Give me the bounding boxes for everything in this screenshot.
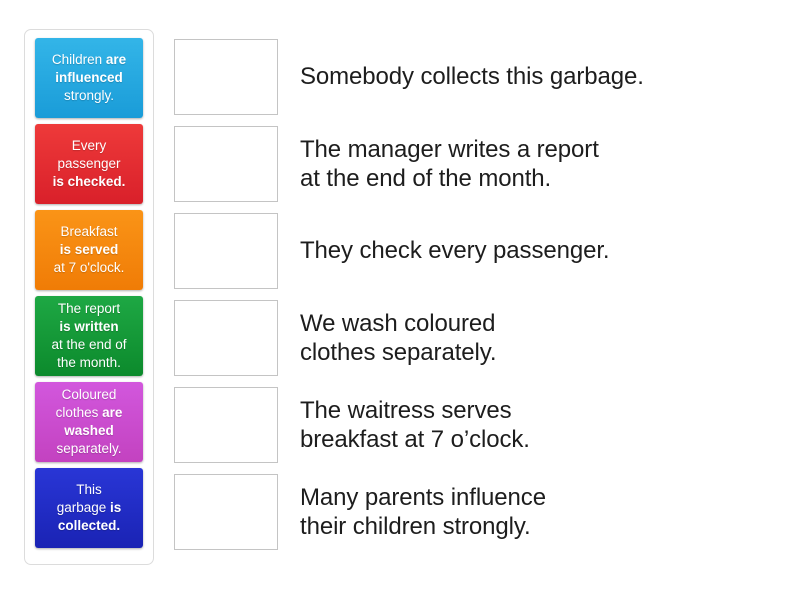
tile-coloured-clothes-washed[interactable]: Colouredclothes arewashedseparately. [35, 382, 143, 462]
tile-text-line: Every [39, 137, 139, 155]
tile-text-line: influenced [39, 69, 139, 87]
answer-text-line: breakfast at 7 o’clock. [300, 425, 530, 454]
answer-row: We wash colouredclothes separately. [174, 299, 774, 377]
activity-root: Children areinfluencedstrongly.Everypass… [0, 0, 800, 600]
tile-label: Children areinfluencedstrongly. [39, 51, 139, 105]
drop-zone-4[interactable] [174, 300, 278, 376]
tile-text-plain: at 7 o'clock. [54, 260, 125, 275]
tile-label: Thisgarbage iscollected. [39, 481, 139, 535]
answer-text-line: They check every passenger. [300, 236, 609, 265]
tile-text-line: separately. [39, 440, 139, 458]
tile-text-bold: is [110, 500, 121, 515]
tile-text-line: Coloured [39, 386, 139, 404]
answer-list: Somebody collects this garbage.The manag… [174, 38, 774, 560]
answer-collects-garbage: Somebody collects this garbage. [300, 62, 644, 91]
tile-text-plain: Every [72, 138, 107, 153]
tile-text-line: washed [39, 422, 139, 440]
tile-text-bold: are [106, 52, 126, 67]
answer-text-line: The waitress serves [300, 396, 530, 425]
answer-text-line: We wash coloured [300, 309, 496, 338]
answer-row: Many parents influencetheir children str… [174, 473, 774, 551]
tile-text-plain: at the end of [51, 337, 126, 352]
tile-text-bold: are [102, 405, 122, 420]
tile-text-plain: clothes [56, 405, 103, 420]
drop-zone-3[interactable] [174, 213, 278, 289]
tile-text-plain: garbage [57, 500, 110, 515]
tile-text-line: collected. [39, 517, 139, 535]
tile-garbage-collected[interactable]: Thisgarbage iscollected. [35, 468, 143, 548]
drop-zone-1[interactable] [174, 39, 278, 115]
tile-text-bold: is served [60, 242, 119, 257]
tile-text-line: The report [39, 300, 139, 318]
answer-row: The manager writes a reportat the end of… [174, 125, 774, 203]
tile-label: Colouredclothes arewashedseparately. [39, 386, 139, 458]
drop-zone-6[interactable] [174, 474, 278, 550]
tile-text-line: at the end of [39, 336, 139, 354]
answer-check-every-passenger: They check every passenger. [300, 236, 609, 265]
tile-text-line: clothes are [39, 404, 139, 422]
answer-row: The waitress servesbreakfast at 7 o’cloc… [174, 386, 774, 464]
tile-text-plain: Coloured [62, 387, 117, 402]
tile-tray: Children areinfluencedstrongly.Everypass… [24, 29, 154, 565]
answer-text-line: clothes separately. [300, 338, 496, 367]
drop-zone-2[interactable] [174, 126, 278, 202]
answer-text-line: at the end of the month. [300, 164, 599, 193]
answer-waitress-serves-breakfast: The waitress servesbreakfast at 7 o’cloc… [300, 396, 530, 455]
tile-label: The reportis writtenat the end ofthe mon… [39, 300, 139, 372]
tile-text-plain: strongly. [64, 88, 114, 103]
answer-row: They check every passenger. [174, 212, 774, 290]
tile-text-line: Breakfast [39, 223, 139, 241]
tile-label: Breakfastis servedat 7 o'clock. [39, 223, 139, 277]
tile-text-line: is served [39, 241, 139, 259]
tile-text-bold: influenced [55, 70, 123, 85]
tile-text-line: passenger [39, 155, 139, 173]
tile-text-plain: This [76, 482, 102, 497]
tile-text-bold: is checked. [53, 174, 126, 189]
tile-text-bold: is written [59, 319, 118, 334]
tile-text-line: This [39, 481, 139, 499]
answer-text-line: Somebody collects this garbage. [300, 62, 644, 91]
tile-text-line: strongly. [39, 87, 139, 105]
tile-text-bold: washed [64, 423, 114, 438]
tile-text-line: is checked. [39, 173, 139, 191]
tile-every-passenger-checked[interactable]: Everypassengeris checked. [35, 124, 143, 204]
tile-text-plain: Children [52, 52, 106, 67]
answer-manager-writes-report: The manager writes a reportat the end of… [300, 135, 599, 194]
tile-text-plain: passenger [57, 156, 120, 171]
tile-text-plain: The report [58, 301, 120, 316]
tile-text-bold: collected. [58, 518, 120, 533]
tile-text-line: is written [39, 318, 139, 336]
tile-text-line: at 7 o'clock. [39, 259, 139, 277]
tile-text-plain: Breakfast [60, 224, 117, 239]
tile-text-line: garbage is [39, 499, 139, 517]
tile-text-line: Children are [39, 51, 139, 69]
tile-text-line: the month. [39, 354, 139, 372]
tile-text-plain: separately. [56, 441, 121, 456]
answer-text-line: Many parents influence [300, 483, 546, 512]
tile-children-influenced[interactable]: Children areinfluencedstrongly. [35, 38, 143, 118]
answer-text-line: The manager writes a report [300, 135, 599, 164]
answer-wash-coloured-clothes: We wash colouredclothes separately. [300, 309, 496, 368]
tile-report-written[interactable]: The reportis writtenat the end ofthe mon… [35, 296, 143, 376]
tile-label: Everypassengeris checked. [39, 137, 139, 191]
tile-breakfast-served[interactable]: Breakfastis servedat 7 o'clock. [35, 210, 143, 290]
answer-parents-influence-children: Many parents influencetheir children str… [300, 483, 546, 542]
drop-zone-5[interactable] [174, 387, 278, 463]
tile-text-plain: the month. [57, 355, 121, 370]
answer-row: Somebody collects this garbage. [174, 38, 774, 116]
answer-text-line: their children strongly. [300, 512, 546, 541]
